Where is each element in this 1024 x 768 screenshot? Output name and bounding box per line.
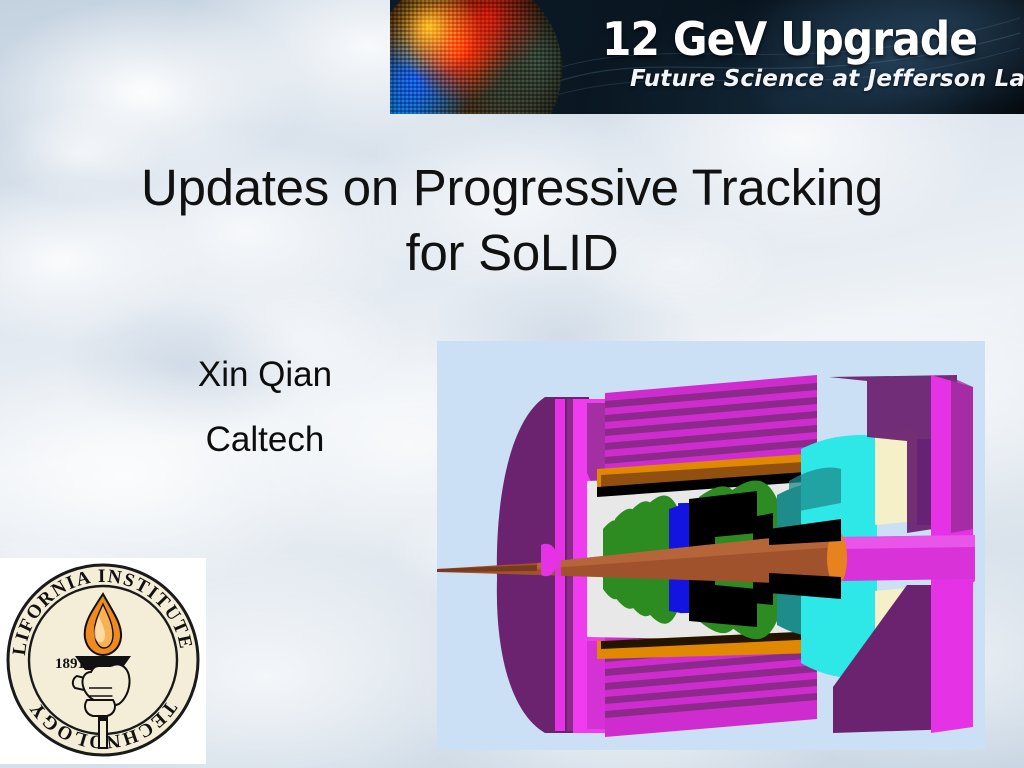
right-end-plate-shadow — [951, 377, 973, 533]
author-name: Xin Qian — [100, 343, 430, 408]
caltech-logo-box: CALIFORNIA INSTITUTE OF TECHNOLOGY 1891 — [0, 558, 206, 764]
presentation-slide: 12 GeV Upgrade Future Science at Jeffers… — [0, 0, 1024, 768]
solid-detector-image — [437, 341, 985, 750]
slide-title-line2: for SoLID — [60, 220, 964, 285]
author-affiliation: Caltech — [100, 408, 430, 473]
caltech-seal-icon: CALIFORNIA INSTITUTE OF TECHNOLOGY 1891 — [3, 560, 203, 760]
yoke-plate-front — [555, 399, 561, 731]
slide-title-line1: Updates on Progressive Tracking — [60, 155, 964, 220]
jlab-banner: 12 GeV Upgrade Future Science at Jeffers… — [390, 0, 1024, 114]
solid-detector-cad-drawing — [437, 341, 985, 750]
author-block: Xin Qian Caltech — [100, 343, 430, 473]
banner-subtitle: Future Science at Jefferson Lab — [630, 66, 1024, 92]
qcd-lattice-sphere-icon — [390, 0, 562, 114]
banner-title: 12 GeV Upgrade — [602, 12, 977, 66]
beam-pipe-highlight — [837, 535, 975, 549]
slide-title: Updates on Progressive Tracking for SoLI… — [60, 155, 964, 286]
